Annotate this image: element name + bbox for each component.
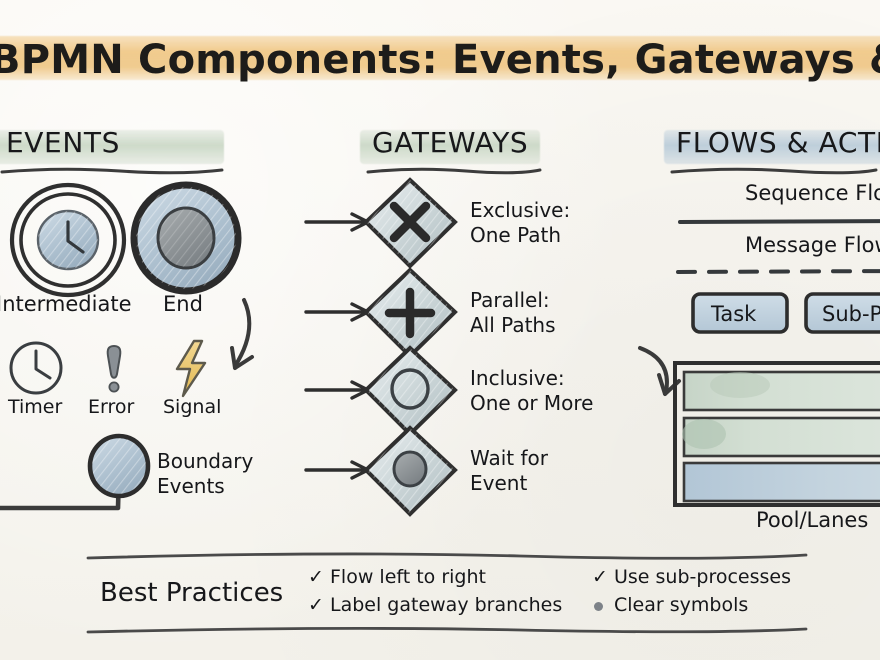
best-practice-bullet-4 bbox=[594, 602, 603, 611]
gateway-event-icon bbox=[306, 428, 455, 514]
sequence-flow-label: Sequence Flow bbox=[745, 181, 880, 205]
section-header-flows: FLOWS & ACTIVITIES bbox=[676, 126, 880, 159]
page-title: BPMN Components: Events, Gateways & Flow… bbox=[0, 30, 880, 90]
gateway-parallel-icon bbox=[306, 270, 455, 356]
gateway-inclusive-line2: One or More bbox=[470, 391, 593, 416]
gateways-header-label: GATEWAYS bbox=[372, 126, 528, 159]
flows-header-label: FLOWS & ACTIVITIES bbox=[676, 126, 880, 159]
best-practice-item-1: Flow left to right bbox=[330, 566, 486, 588]
event-timer-label: Timer bbox=[8, 396, 62, 418]
best-practice-item-4: Clear symbols bbox=[614, 594, 748, 616]
activity-subprocess-label: Sub-Pr bbox=[822, 302, 880, 326]
section-header-gateways: GATEWAYS bbox=[372, 126, 528, 159]
event-intermediate-icon bbox=[12, 185, 124, 295]
event-signal-icon bbox=[177, 341, 205, 396]
best-practice-check-1: ✓ bbox=[308, 566, 324, 588]
event-boundary-label-line1: Boundary bbox=[157, 449, 253, 474]
events-header-label: EVENTS bbox=[6, 126, 120, 159]
gateway-inclusive-line1: Inclusive: bbox=[470, 366, 593, 391]
gateway-inclusive-icon bbox=[306, 348, 455, 434]
best-practice-check-2: ✓ bbox=[308, 594, 324, 616]
activity-task-label: Task bbox=[711, 302, 756, 326]
gateway-event-line1: Wait for bbox=[470, 446, 548, 471]
section-header-events: EVENTS bbox=[6, 126, 120, 159]
event-end-label: End bbox=[163, 292, 203, 316]
flows-header-underline bbox=[670, 166, 880, 171]
event-boundary-label-line2: Events bbox=[157, 474, 253, 499]
diagram-artwork bbox=[0, 0, 880, 660]
event-error-label: Error bbox=[88, 396, 134, 418]
events-curved-arrow-icon bbox=[232, 300, 252, 368]
gateway-exclusive-label: Exclusive: One Path bbox=[470, 198, 570, 248]
pool-lanes-label: Pool/Lanes bbox=[756, 508, 868, 532]
gateway-parallel-label: Parallel: All Paths bbox=[470, 288, 556, 338]
event-intermediate-label: Intermediate bbox=[0, 292, 132, 316]
whiteboard-canvas: BPMN Components: Events, Gateways & Flow… bbox=[0, 0, 880, 660]
event-signal-label: Signal bbox=[163, 396, 221, 418]
gateway-event-line2: Event bbox=[470, 471, 548, 496]
message-flow-label: Message Flow bbox=[745, 233, 880, 257]
best-practice-item-3: Use sub-processes bbox=[614, 566, 791, 588]
best-practice-check-3: ✓ bbox=[592, 566, 608, 588]
gateways-header-underline bbox=[366, 166, 546, 171]
gateway-parallel-line2: All Paths bbox=[470, 313, 556, 338]
gateway-event-label: Wait for Event bbox=[470, 446, 548, 496]
best-practice-item-2: Label gateway branches bbox=[330, 594, 562, 616]
gateway-exclusive-line1: Exclusive: bbox=[470, 198, 570, 223]
event-error-icon bbox=[108, 346, 121, 392]
event-end-icon bbox=[134, 185, 238, 291]
best-practices-title: Best Practices bbox=[100, 578, 283, 608]
events-header-underline bbox=[0, 166, 230, 171]
event-boundary-label: Boundary Events bbox=[157, 449, 253, 499]
message-flow-line bbox=[678, 271, 880, 272]
pool-lanes-diagram bbox=[675, 363, 880, 505]
sequence-flow-line bbox=[680, 221, 880, 222]
event-boundary-icon bbox=[0, 436, 148, 508]
gateway-exclusive-icon bbox=[306, 180, 455, 266]
gateway-inclusive-label: Inclusive: One or More bbox=[470, 366, 593, 416]
gateway-exclusive-line2: One Path bbox=[470, 223, 570, 248]
lane-3 bbox=[684, 463, 880, 501]
event-timer-icon bbox=[11, 343, 61, 393]
gateway-parallel-line1: Parallel: bbox=[470, 288, 556, 313]
